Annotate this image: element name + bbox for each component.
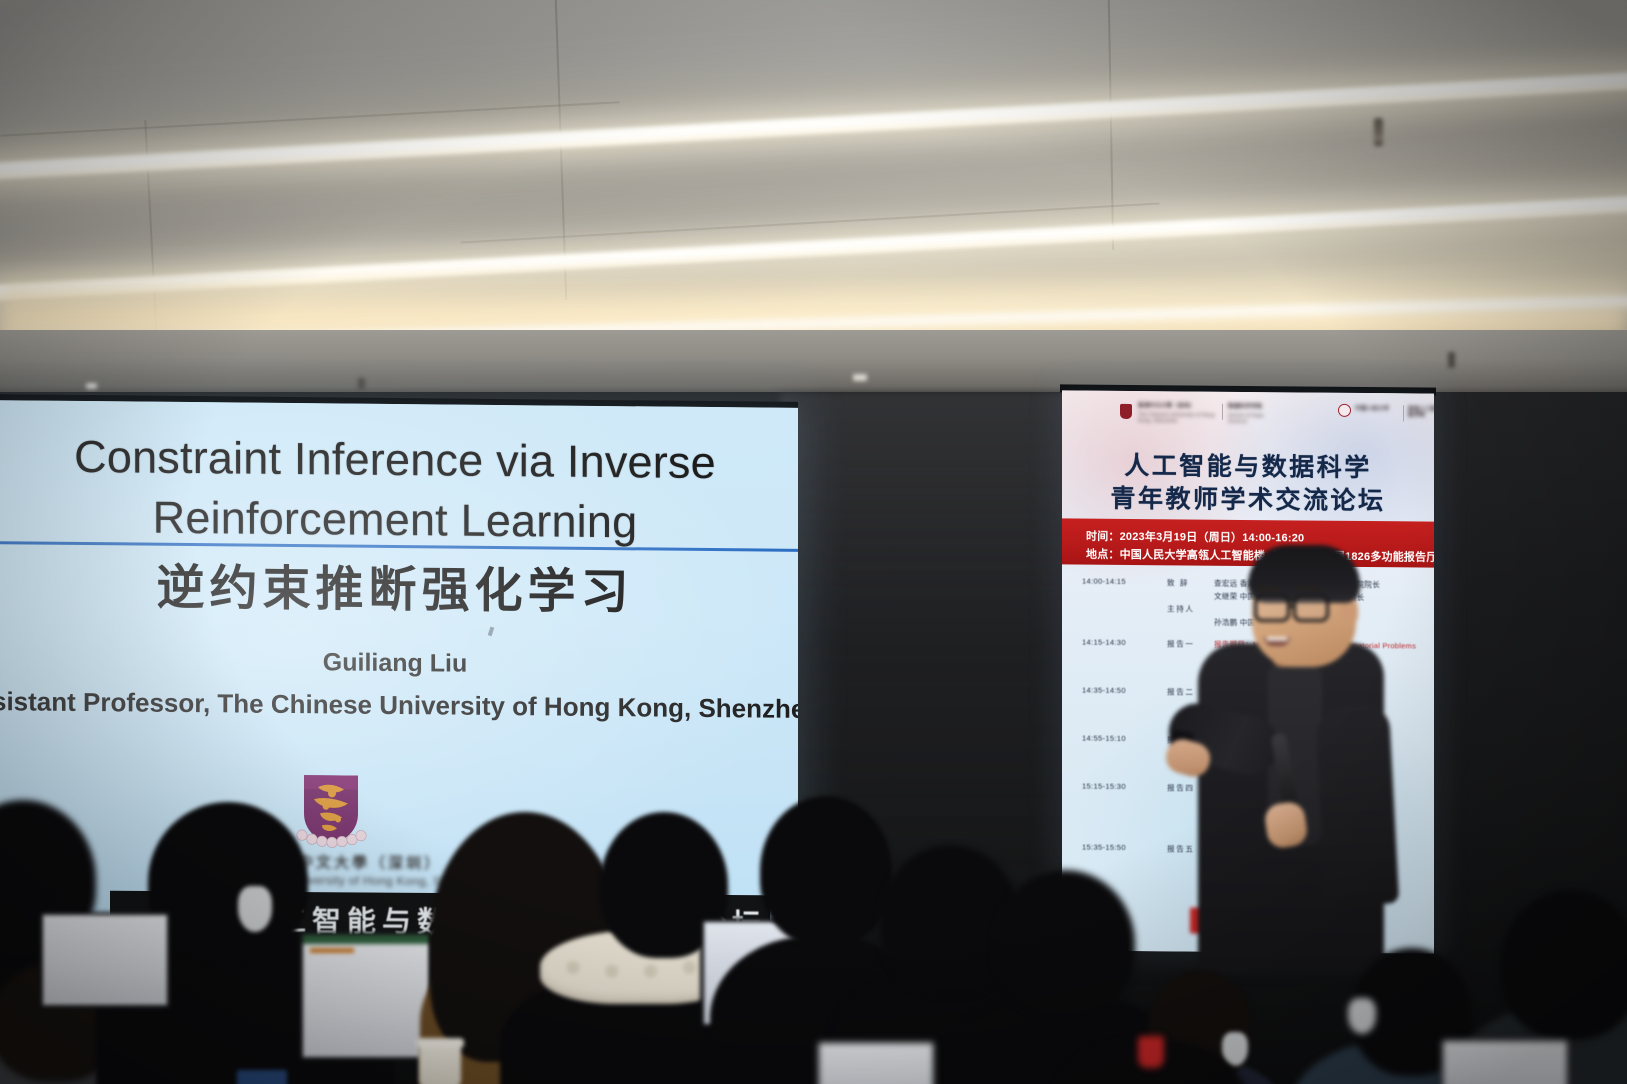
laptop-screen	[1443, 1041, 1567, 1084]
audience-laptop-2	[300, 932, 432, 1060]
face-mask-icon	[238, 886, 272, 932]
laptop-screen	[303, 935, 429, 1057]
poster-logo-left-sub-en: School of Data Science	[1228, 413, 1282, 425]
slide-title-line1: Constraint Inference via Inverse	[0, 426, 798, 494]
lecture-hall-photo: Constraint Inference via Inverse Reinfor…	[0, 0, 1627, 1084]
cup-lid	[416, 1038, 464, 1048]
audience-laptop-4	[1440, 1038, 1570, 1084]
glasses-bridge-icon	[1288, 605, 1296, 608]
slide-title: Constraint Inference via Inverse Reinfor…	[0, 426, 798, 554]
agenda-time: 14:15-14:30	[1082, 638, 1126, 647]
jacket-logo-patch	[237, 1070, 287, 1084]
glasses-right-lens-icon	[1293, 595, 1329, 622]
poster-logo-left-en: The Chinese University of Hong Kong, She…	[1138, 412, 1218, 425]
mouse-cursor-icon	[488, 627, 495, 637]
audience-member-8-head	[995, 870, 1135, 1018]
ceiling-mount-icon	[1448, 352, 1455, 368]
audience-laptop-1	[40, 912, 170, 1008]
glasses-left-lens-icon	[1254, 595, 1290, 622]
poster-logo-right-sub-cn: 高瓴人工智能学院	[1408, 406, 1434, 418]
downlight-icon	[86, 383, 97, 389]
slide-author: Guiliang Liu	[0, 645, 798, 682]
slide-affiliation: Assistant Professor, The Chinese Univers…	[0, 686, 798, 725]
laptop-screen	[43, 915, 167, 1005]
downlight-icon	[853, 374, 867, 381]
water-bottle-icon	[1138, 1036, 1164, 1068]
agenda-time: 14:00-14:15	[1082, 577, 1126, 586]
agenda-time: 14:35-14:50	[1082, 686, 1126, 695]
audience-member-3-head	[148, 802, 308, 962]
poster-logo-right-cn: 中国人民大学	[1355, 406, 1401, 412]
poster-logo-divider	[1222, 404, 1223, 420]
slide-title-chinese: 逆约束推断强化学习	[0, 556, 798, 626]
audience-laptop-3	[816, 1040, 936, 1084]
poster-time-line: 时间：2023年3月19日（周日）14:00-16:20	[1086, 528, 1304, 546]
face-mask-icon	[1222, 1032, 1248, 1066]
sprinkler-head-icon	[1374, 118, 1383, 146]
audience	[0, 740, 1627, 1084]
laptop-screen	[819, 1043, 933, 1084]
ruc-logo-icon	[1338, 404, 1351, 417]
cuhk-sz-logo-icon	[1120, 404, 1132, 419]
audience-member-11-head	[1500, 890, 1627, 1040]
poster-logo-divider	[1403, 405, 1404, 421]
poster-heading-line2: 青年教师学术交流论坛	[1062, 478, 1434, 517]
ceiling-mount-icon	[358, 378, 365, 390]
laptop-toolbar	[303, 935, 429, 944]
face-mask-icon	[1348, 998, 1376, 1034]
poster-logo-row: 香港中文大學（深圳） The Chinese University of Hon…	[1062, 390, 1434, 437]
coffee-cup-icon	[419, 1043, 461, 1084]
poster-logo-left-cn: 香港中文大學（深圳）	[1138, 403, 1212, 410]
poster-logo-left-sub-cn: 数据科学学院	[1228, 404, 1274, 410]
audience-member-6-head	[760, 796, 892, 946]
laptop-highlight-row	[310, 948, 354, 953]
